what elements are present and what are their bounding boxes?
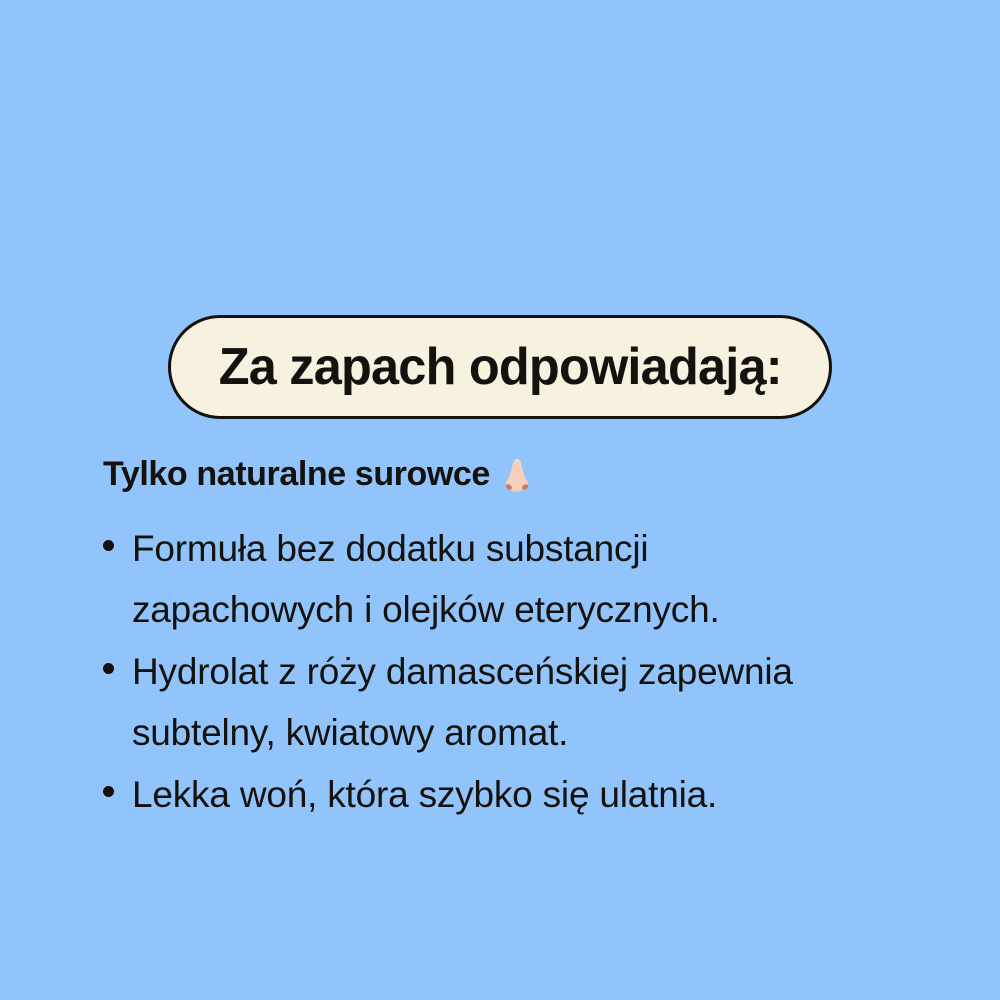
list-item-text: Formuła bez dodatku substancji zapachowy…: [132, 518, 877, 640]
list-item-text: Hydrolat z róży damasceńskiej zapewnia s…: [132, 641, 877, 763]
bullet-dot-icon: [103, 786, 114, 797]
list-item: Hydrolat z róży damasceńskiej zapewnia s…: [103, 641, 903, 763]
page-title: Za zapach odpowiadają:: [218, 341, 781, 393]
subtitle-label: Tylko naturalne surowce: [103, 454, 490, 495]
list-item-text: Lekka woń, która szybko się ulatnia.: [132, 764, 717, 825]
bullet-dot-icon: [103, 663, 114, 674]
subtitle-row: Tylko naturalne surowce: [103, 454, 534, 495]
title-pill: Za zapach odpowiadają:: [168, 315, 832, 419]
list-item: Formuła bez dodatku substancji zapachowy…: [103, 518, 903, 640]
promo-slide: Za zapach odpowiadają: Tylko naturalne s…: [0, 0, 1000, 1000]
list-item: Lekka woń, która szybko się ulatnia.: [103, 764, 903, 825]
bullet-dot-icon: [103, 540, 114, 551]
benefits-list: Formuła bez dodatku substancji zapachowy…: [103, 518, 903, 826]
nose-icon: [500, 457, 534, 495]
